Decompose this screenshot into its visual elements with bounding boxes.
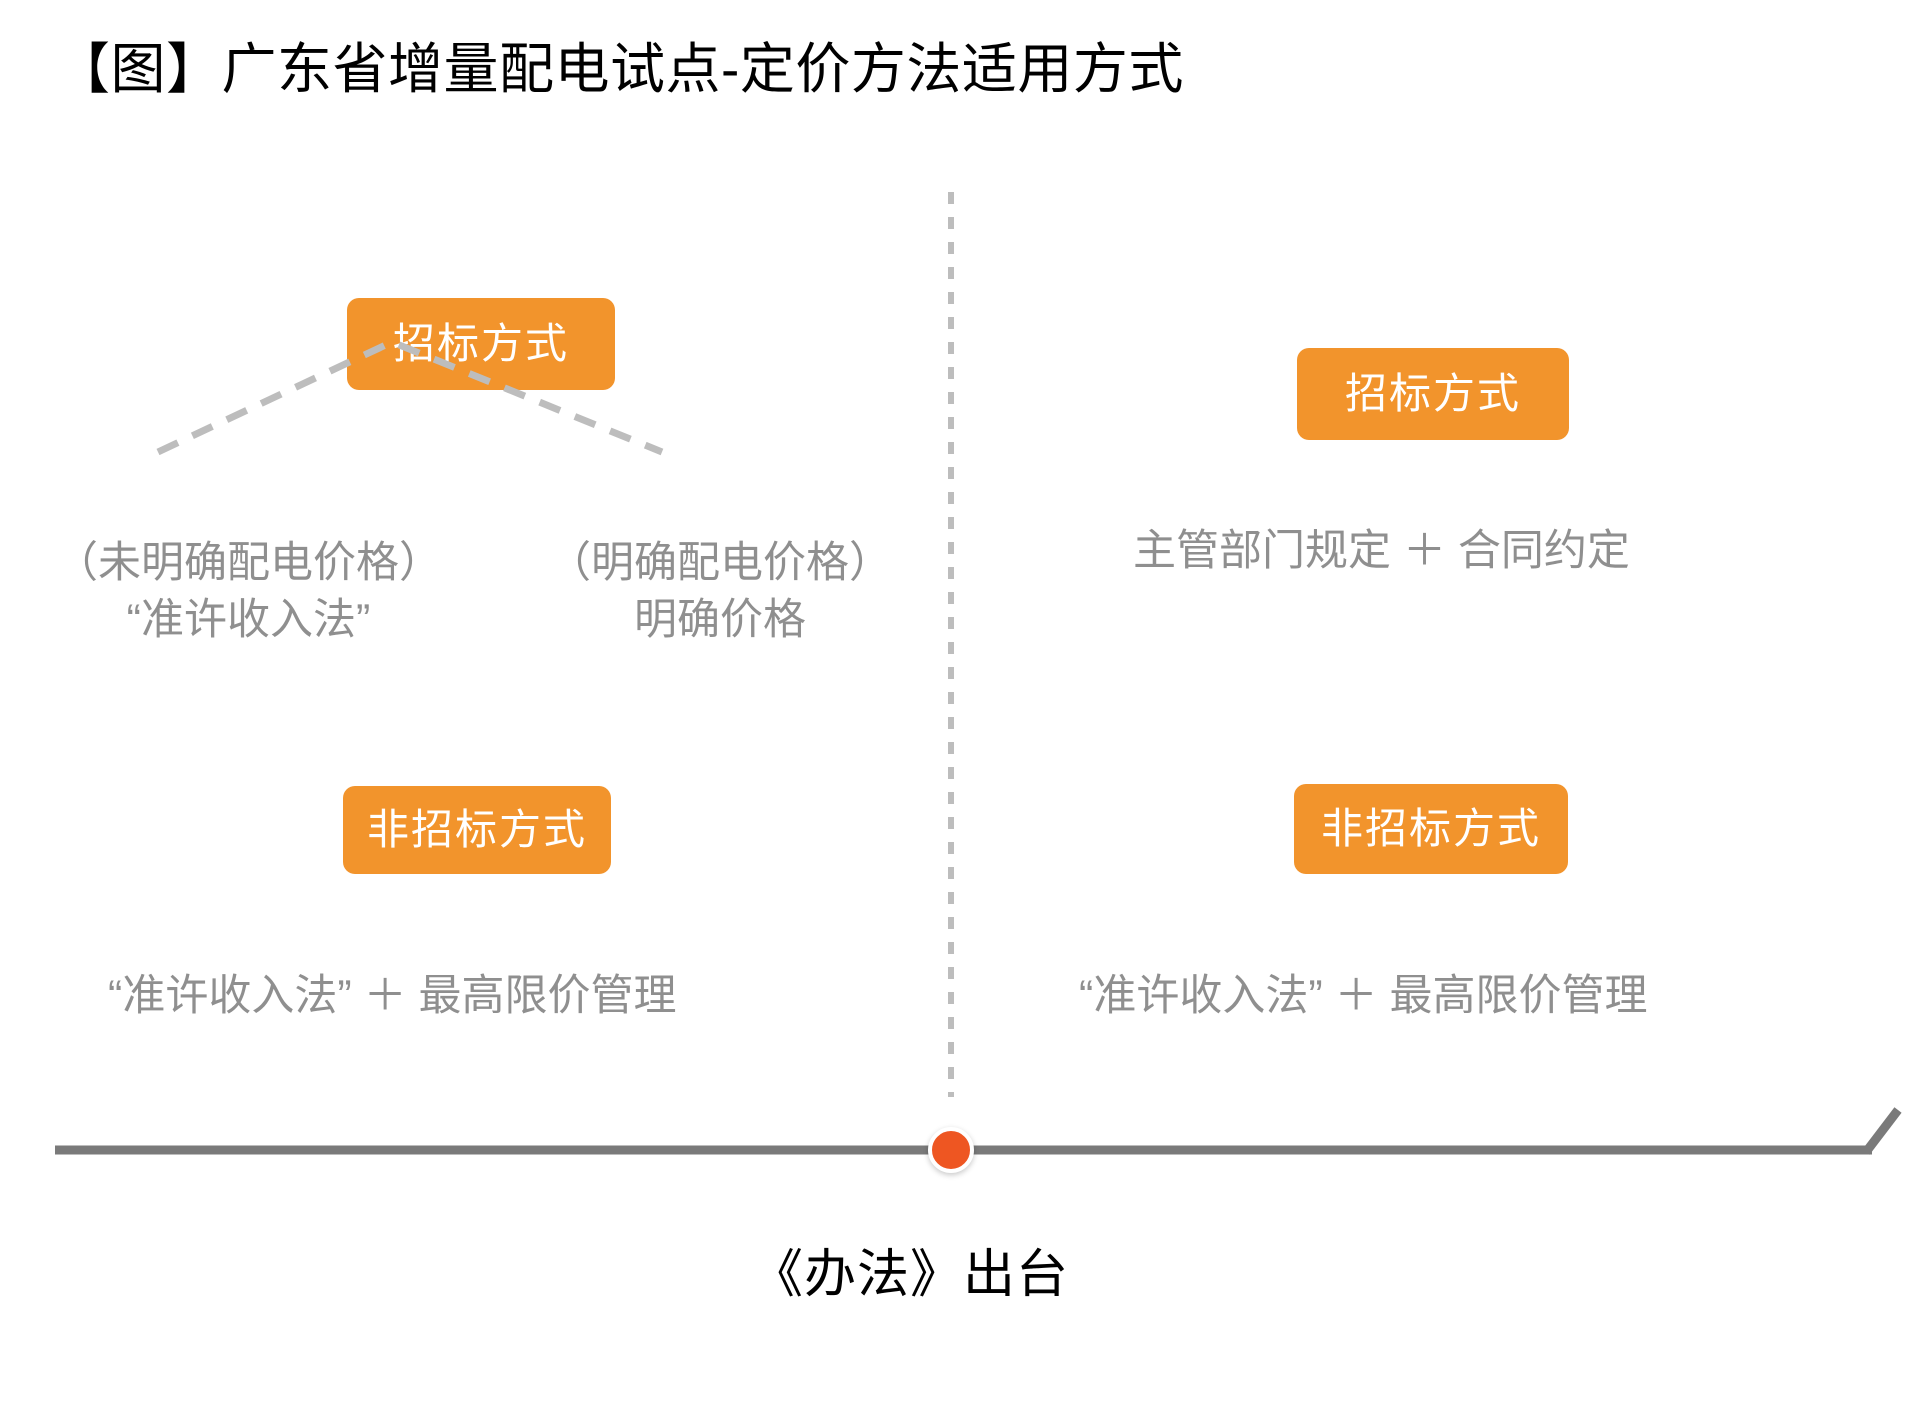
left-nontender-note: “准许收入法” ＋ 最高限价管理 [108, 968, 677, 1025]
right-tender-note: 主管部门规定 ＋ 合同约定 [1133, 523, 1630, 580]
branch-right-condition: （明确配电价格） [548, 539, 892, 587]
branch-right-method: 明确价格 [548, 592, 892, 649]
timeline-milestone-dot-icon [928, 1127, 974, 1173]
branch-left-method: “准许收入法” [55, 592, 442, 649]
pill-nontender-left-label: 非招标方式 [367, 809, 587, 851]
timeline-arrowhead-icon [1866, 1110, 1898, 1152]
timeline-caption-label: 《办法》出台 [751, 1232, 1069, 1307]
pill-tender-right-label: 招标方式 [1345, 373, 1521, 415]
branch-connector-dashed [150, 330, 670, 460]
branch-left-text: （未明确配电价格） “准许收入法” [55, 535, 442, 649]
pill-tender-right: 招标方式 [1297, 348, 1569, 440]
diagram-canvas: 【图】广东省增量配电试点-定价方法适用方式 招标方式 （未明确配电价格） “准许… [0, 0, 1920, 1410]
pill-nontender-right: 非招标方式 [1294, 784, 1568, 874]
timeline-caption: 《办法》出台 [0, 1232, 1920, 1307]
page-title: 【图】广东省增量配电试点-定价方法适用方式 [55, 38, 1184, 101]
vertical-dashed-divider [948, 192, 954, 1097]
pill-nontender-left: 非招标方式 [343, 786, 611, 874]
right-nontender-note: “准许收入法” ＋ 最高限价管理 [1079, 968, 1648, 1025]
branch-left-condition: （未明确配电价格） [55, 539, 442, 587]
pill-nontender-right-label: 非招标方式 [1321, 808, 1541, 850]
branch-right-text: （明确配电价格） 明确价格 [548, 535, 892, 649]
